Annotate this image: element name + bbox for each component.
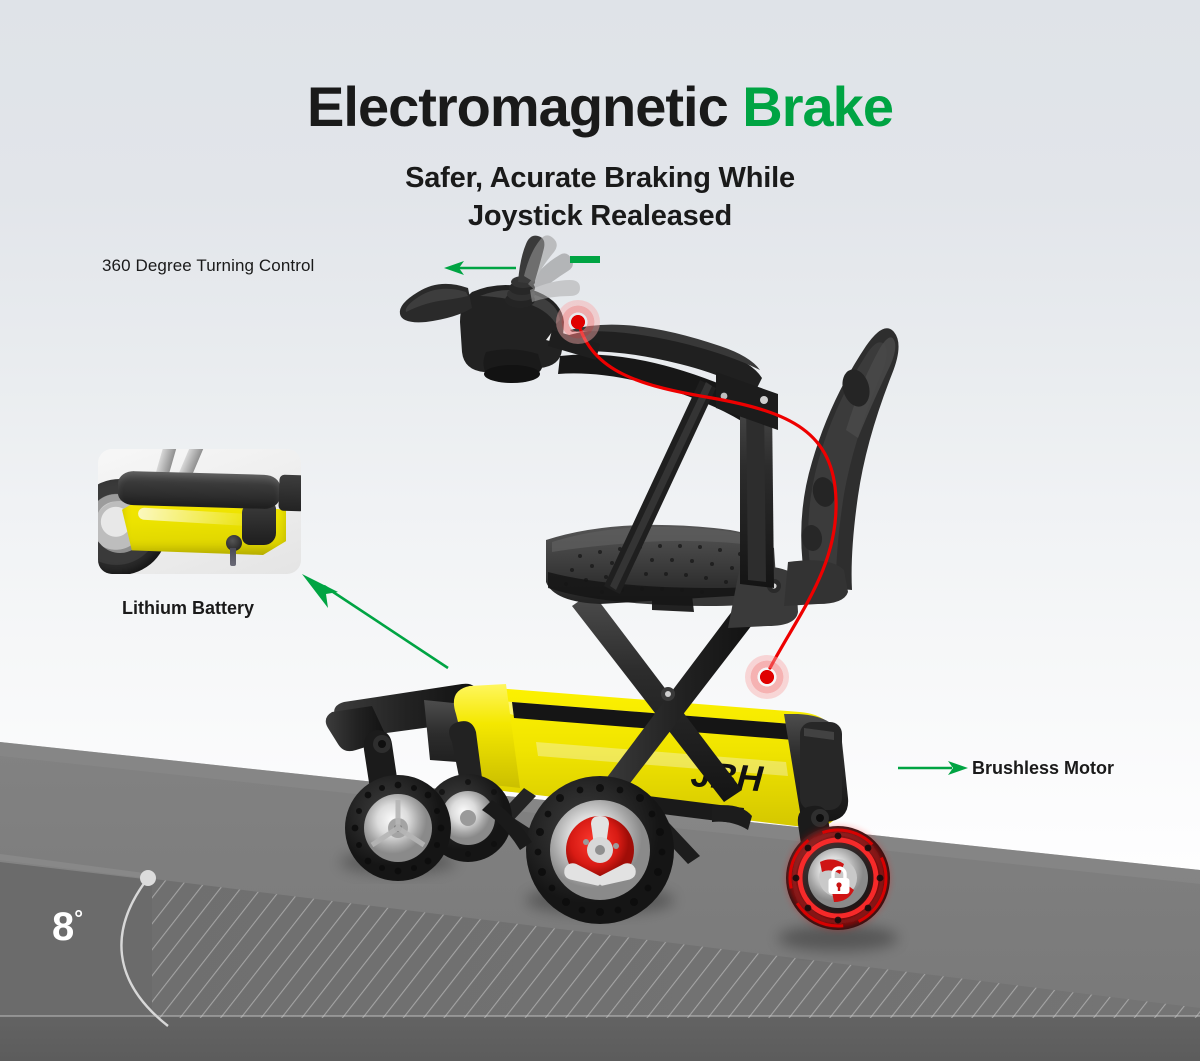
inset-battery-tube — [118, 471, 281, 510]
subtitle-line-1: Safer, Acurate Braking While — [0, 159, 1200, 197]
lithium-battery-closeup-inset — [98, 449, 301, 574]
backrest — [784, 328, 899, 606]
title-primary: Electromagnetic — [307, 75, 728, 138]
hotspot-halo — [556, 300, 600, 344]
arrow-diagonal-up-left-icon — [298, 570, 454, 674]
incline-angle-label: 8° — [52, 905, 83, 950]
hotspot-halo — [745, 655, 789, 699]
callout-label-battery: Lithium Battery — [122, 598, 254, 619]
lock-icon — [826, 866, 852, 896]
title-block: Electromagnetic Brake Safer, Acurate Bra… — [0, 78, 1200, 235]
title-accent: Brake — [742, 75, 893, 138]
page-title: Electromagnetic Brake — [0, 78, 1200, 137]
infographic-canvas: 8° — [0, 0, 1200, 1061]
inset-black-panel — [242, 503, 276, 545]
subtitle-line-2: Joystick Realeased — [0, 197, 1200, 235]
brake-hotspot-motor[interactable] — [745, 655, 789, 699]
inset-key-lock — [226, 535, 242, 551]
green-accent-dash — [570, 256, 600, 263]
inset-battery-cap — [278, 475, 301, 512]
brake-hotspot-joystick[interactable] — [556, 300, 600, 344]
page-subtitle: Safer, Acurate Braking While Joystick Re… — [0, 159, 1200, 236]
callout-label-turning: 360 Degree Turning Control — [102, 256, 314, 276]
arrow-left-icon — [442, 255, 518, 281]
arrow-right-icon — [898, 755, 970, 781]
callout-label-motor: Brushless Motor — [972, 758, 1114, 779]
drive-wheel — [526, 776, 674, 924]
